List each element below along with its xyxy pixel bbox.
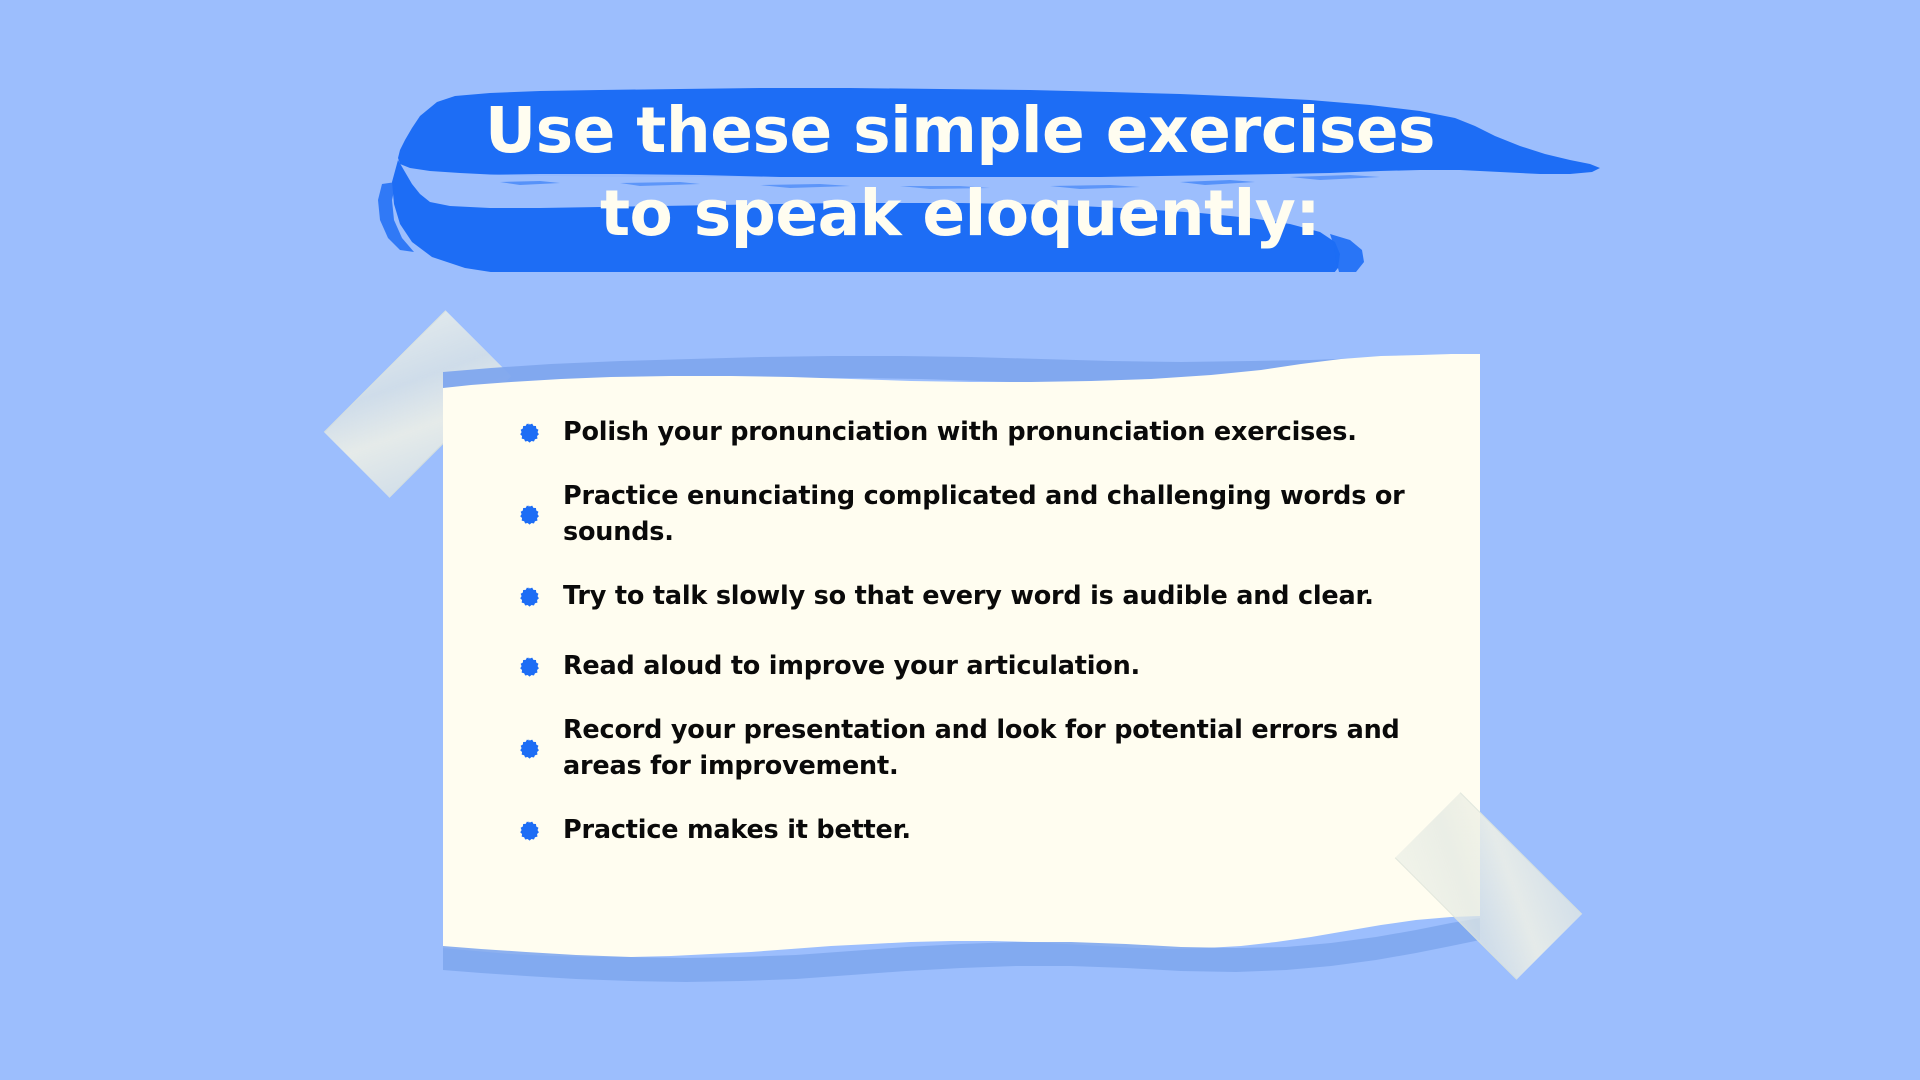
bullet-starburst-icon — [517, 656, 539, 678]
list-item: Practice makes it better. — [503, 806, 1420, 854]
title-block: Use these simple exercises to speak eloq… — [0, 82, 1920, 272]
list-item: Record your presentation and look for po… — [503, 712, 1420, 784]
list-item-text: Practice makes it better. — [563, 812, 911, 848]
bullet-starburst-icon — [517, 504, 539, 526]
list-item: Read aloud to improve your articulation. — [503, 642, 1420, 690]
bullet-starburst-icon — [517, 586, 539, 608]
list-item-text: Practice enunciating complicated and cha… — [563, 478, 1420, 550]
list-item-text: Polish your pronunciation with pronuncia… — [563, 414, 1357, 450]
paper-note: Polish your pronunciation with pronuncia… — [443, 330, 1480, 990]
note-content: Polish your pronunciation with pronuncia… — [443, 330, 1480, 990]
title-line-1: Use these simple exercises — [485, 88, 1435, 174]
poster-canvas: Use these simple exercises to speak eloq… — [0, 0, 1920, 1080]
list-item: Try to talk slowly so that every word is… — [503, 572, 1420, 620]
bullet-starburst-icon — [517, 738, 539, 760]
list-item-text: Try to talk slowly so that every word is… — [563, 578, 1374, 614]
tips-list: Polish your pronunciation with pronuncia… — [503, 408, 1420, 854]
bullet-starburst-icon — [517, 820, 539, 842]
list-item: Practice enunciating complicated and cha… — [503, 478, 1420, 550]
list-item-text: Read aloud to improve your articulation. — [563, 648, 1140, 684]
bullet-starburst-icon — [517, 422, 539, 444]
title-line-2: to speak eloquently: — [600, 171, 1320, 257]
title-text-group: Use these simple exercises to speak eloq… — [0, 82, 1920, 272]
list-item-text: Record your presentation and look for po… — [563, 712, 1420, 784]
list-item: Polish your pronunciation with pronuncia… — [503, 408, 1420, 456]
